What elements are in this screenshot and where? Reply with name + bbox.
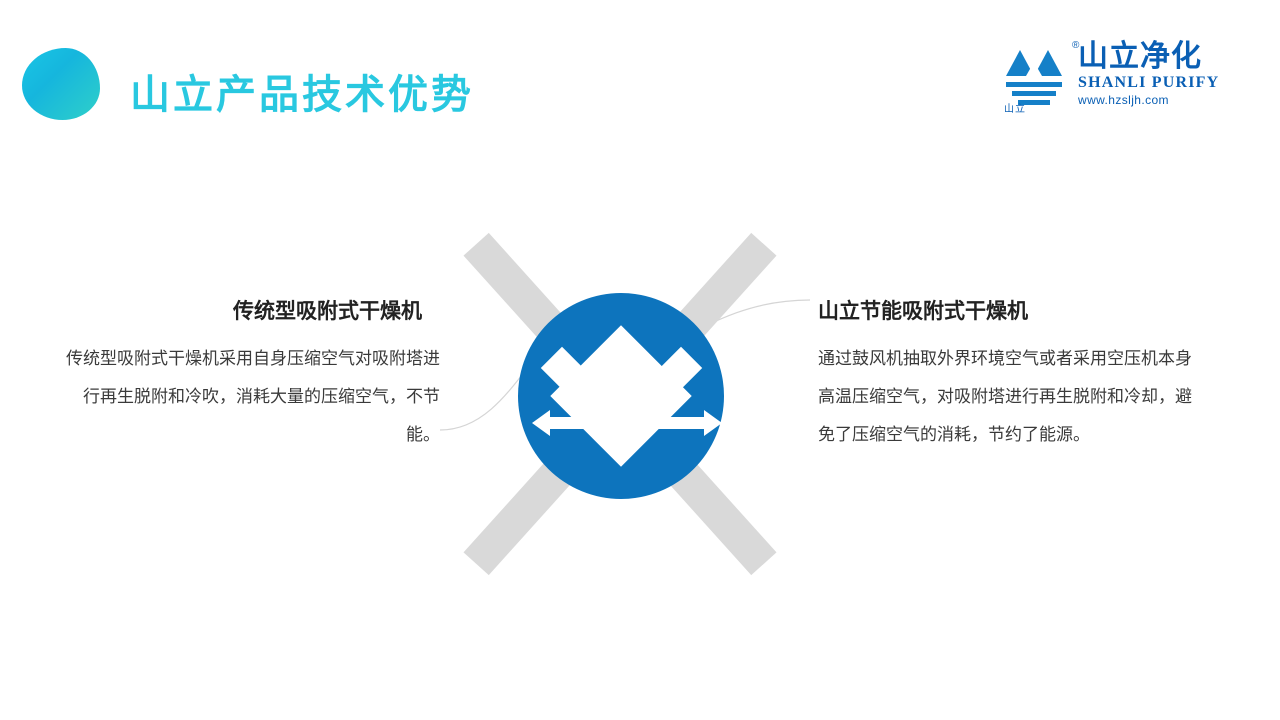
logo-name-en: SHANLI PURIFY: [1078, 74, 1218, 92]
center-graphic: [420, 225, 820, 585]
page-title: 山立产品技术优势: [130, 62, 474, 120]
column-traditional: 传统型吸附式干燥机 传统型吸附式干燥机采用自身压缩空气对吸附塔进行再生脱附和冷吹…: [50, 298, 440, 454]
arrow-left-icon: [532, 408, 596, 438]
company-logo: ® 山立 山立净化 SHANLI PURIFY www.hzsljh.com: [998, 40, 1218, 118]
arrow-right-icon: [658, 408, 722, 438]
logo-name-cn: 山立净化: [1078, 40, 1218, 74]
logo-text-block: 山立净化 SHANLI PURIFY www.hzsljh.com: [1078, 40, 1218, 108]
logo-sub-label: 山立: [1004, 100, 1026, 115]
column-body: 通过鼓风机抽取外界环境空气或者采用空压机本身高温压缩空气，对吸附塔进行再生脱附和…: [818, 340, 1208, 454]
blob-shape-icon: [22, 48, 100, 120]
column-shanli: 山立节能吸附式干燥机 通过鼓风机抽取外界环境空气或者采用空压机本身高温压缩空气，…: [818, 298, 1208, 454]
logo-website-url: www.hzsljh.com: [1078, 92, 1218, 108]
column-title: 山立节能吸附式干燥机: [818, 298, 1208, 324]
column-title: 传统型吸附式干燥机: [50, 298, 440, 324]
column-body: 传统型吸附式干燥机采用自身压缩空气对吸附塔进行再生脱附和冷吹，消耗大量的压缩空气…: [50, 340, 440, 454]
slide-header: 山立产品技术优势 ® 山立 山立净化 SHANLI PURIFY www.hzs…: [0, 0, 1280, 150]
